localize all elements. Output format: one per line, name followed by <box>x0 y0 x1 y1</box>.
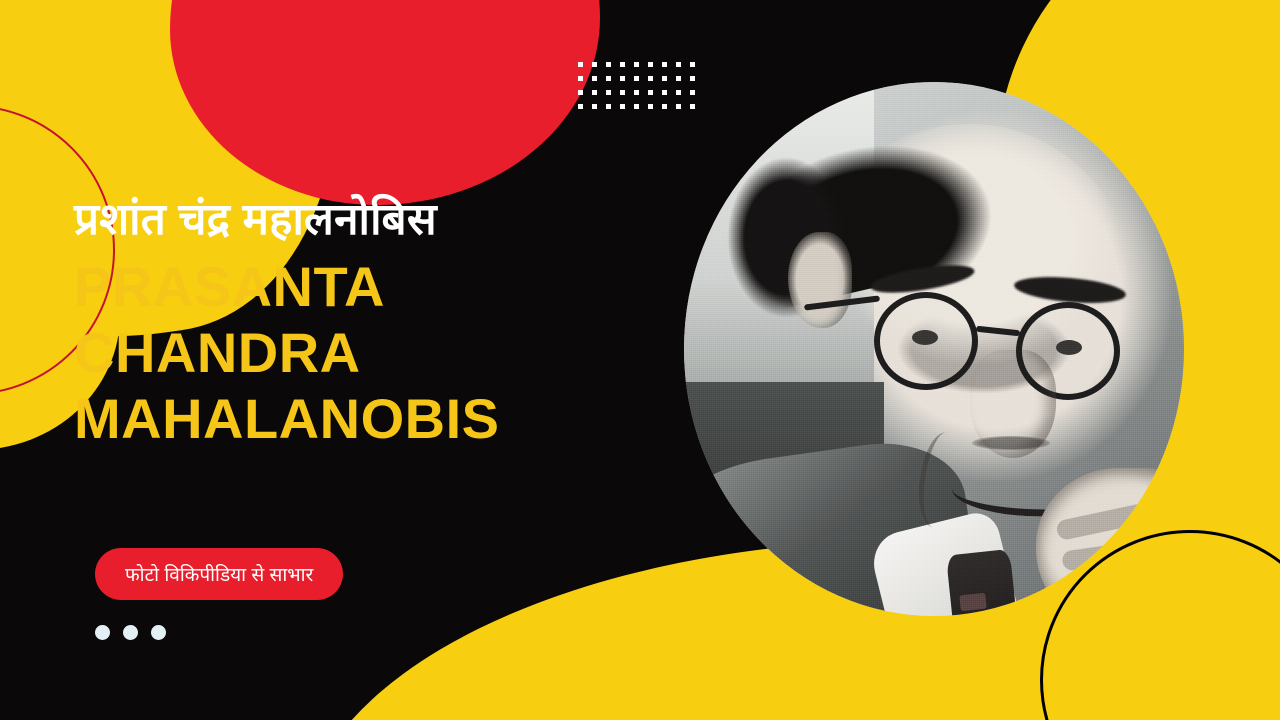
grid-dot <box>676 90 681 95</box>
grid-dot <box>648 76 653 81</box>
grid-dot <box>620 90 625 95</box>
grid-dot <box>606 104 611 109</box>
photo-credit-badge: फोटो विकिपीडिया से साभार <box>95 548 343 600</box>
grid-dot <box>676 104 681 109</box>
grid-dot <box>606 76 611 81</box>
grid-dot <box>592 104 597 109</box>
bullet-dot <box>95 625 110 640</box>
grid-dot <box>634 76 639 81</box>
title-block: प्रशांत चंद्र महालनोबिस PRASANTA CHANDRA… <box>74 196 694 452</box>
bullet-dot <box>151 625 166 640</box>
grid-dot <box>648 104 653 109</box>
bullet-dots-ornament <box>95 625 166 640</box>
red-blob-top <box>170 0 600 205</box>
portrait-film-grain <box>684 82 1184 616</box>
grid-dot <box>620 62 625 67</box>
title-english-line-1: PRASANTA <box>74 254 694 320</box>
grid-dot <box>662 90 667 95</box>
grid-dot <box>620 76 625 81</box>
title-english-line-2: CHANDRA <box>74 320 694 386</box>
grid-dot <box>592 90 597 95</box>
grid-dot <box>690 76 695 81</box>
grid-dot <box>690 62 695 67</box>
grid-dot <box>676 76 681 81</box>
grid-dot <box>648 90 653 95</box>
portrait-photo <box>684 82 1184 616</box>
title-english: PRASANTA CHANDRA MAHALANOBIS <box>74 254 694 452</box>
title-english-line-3: MAHALANOBIS <box>74 386 694 452</box>
grid-dot <box>578 104 583 109</box>
portrait-image <box>684 82 1184 616</box>
grid-dot <box>634 62 639 67</box>
title-hindi: प्रशांत चंद्र महालनोबिस <box>74 196 694 244</box>
grid-dot <box>634 104 639 109</box>
grid-dot <box>592 76 597 81</box>
grid-dot <box>648 62 653 67</box>
poster-canvas: प्रशांत चंद्र महालनोबिस PRASANTA CHANDRA… <box>0 0 1280 720</box>
bullet-dot <box>123 625 138 640</box>
grid-dot <box>578 76 583 81</box>
grid-dot <box>620 104 625 109</box>
grid-dot <box>578 62 583 67</box>
grid-dot <box>662 76 667 81</box>
grid-dot <box>634 90 639 95</box>
grid-dot <box>662 62 667 67</box>
grid-dot <box>606 90 611 95</box>
grid-dot <box>578 90 583 95</box>
grid-dot <box>676 62 681 67</box>
grid-dot <box>606 62 611 67</box>
grid-dot <box>592 62 597 67</box>
grid-dot <box>662 104 667 109</box>
